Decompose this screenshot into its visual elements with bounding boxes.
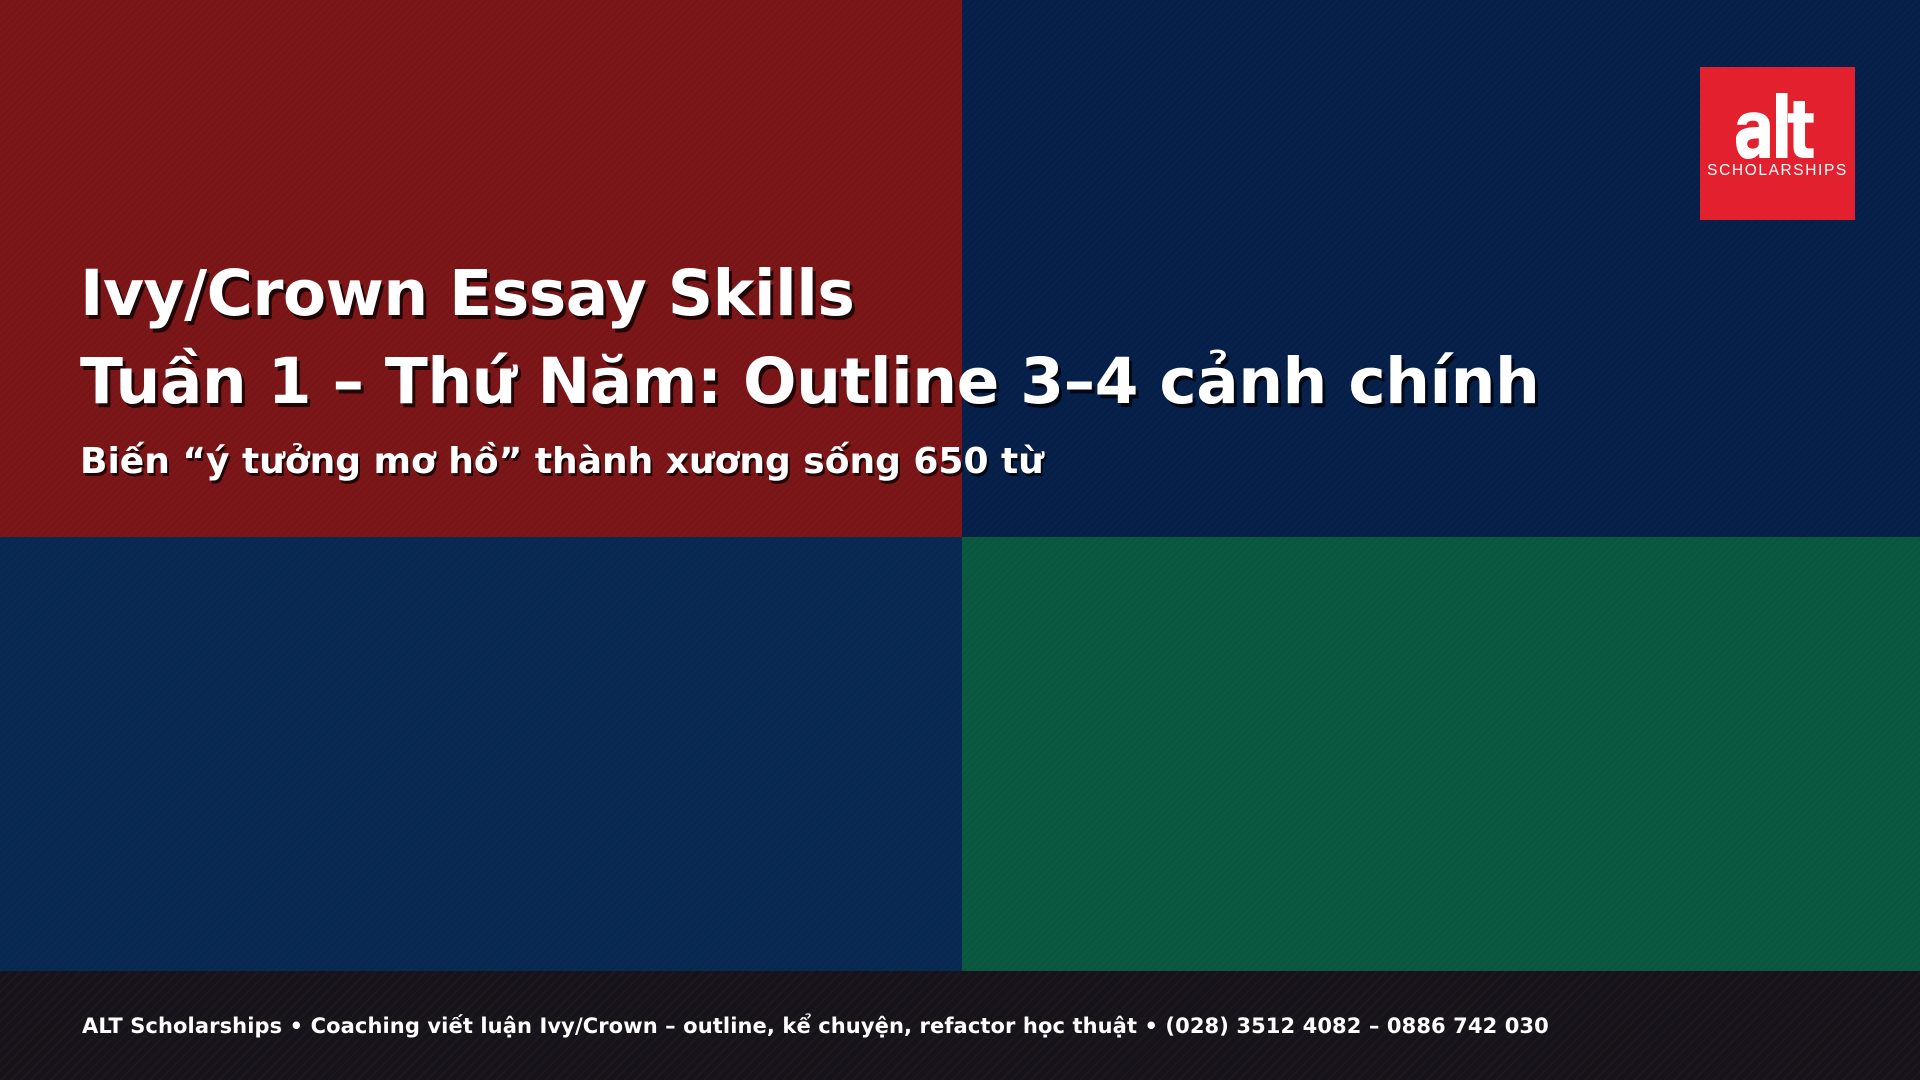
logo-wordmark-text: SCHOLARSHIPS [1700,162,1855,180]
panel-bottom-right [962,537,1920,971]
slide-canvas: SCHOLARSHIPS Ivy/Crown Essay Skills Tuần… [0,0,1920,1080]
slide-subtitle: Biến “ý tưởng mơ hồ” thành xương sống 65… [80,438,1880,486]
slide-title-line-2: Tuần 1 – Thứ Năm: Outline 3–4 cảnh chính [80,338,1880,426]
slide-title-line-1: Ivy/Crown Essay Skills [80,250,1880,338]
alt-scholarships-logo: SCHOLARSHIPS [1700,67,1855,220]
footer-contact-text: ALT Scholarships • Coaching viết luận Iv… [0,1014,1549,1038]
alt-logo-icon [1700,93,1855,159]
footer-bar: ALT Scholarships • Coaching viết luận Iv… [0,971,1920,1080]
panel-bottom-left [0,537,962,971]
headline-block: Ivy/Crown Essay Skills Tuần 1 – Thứ Năm:… [80,250,1880,486]
